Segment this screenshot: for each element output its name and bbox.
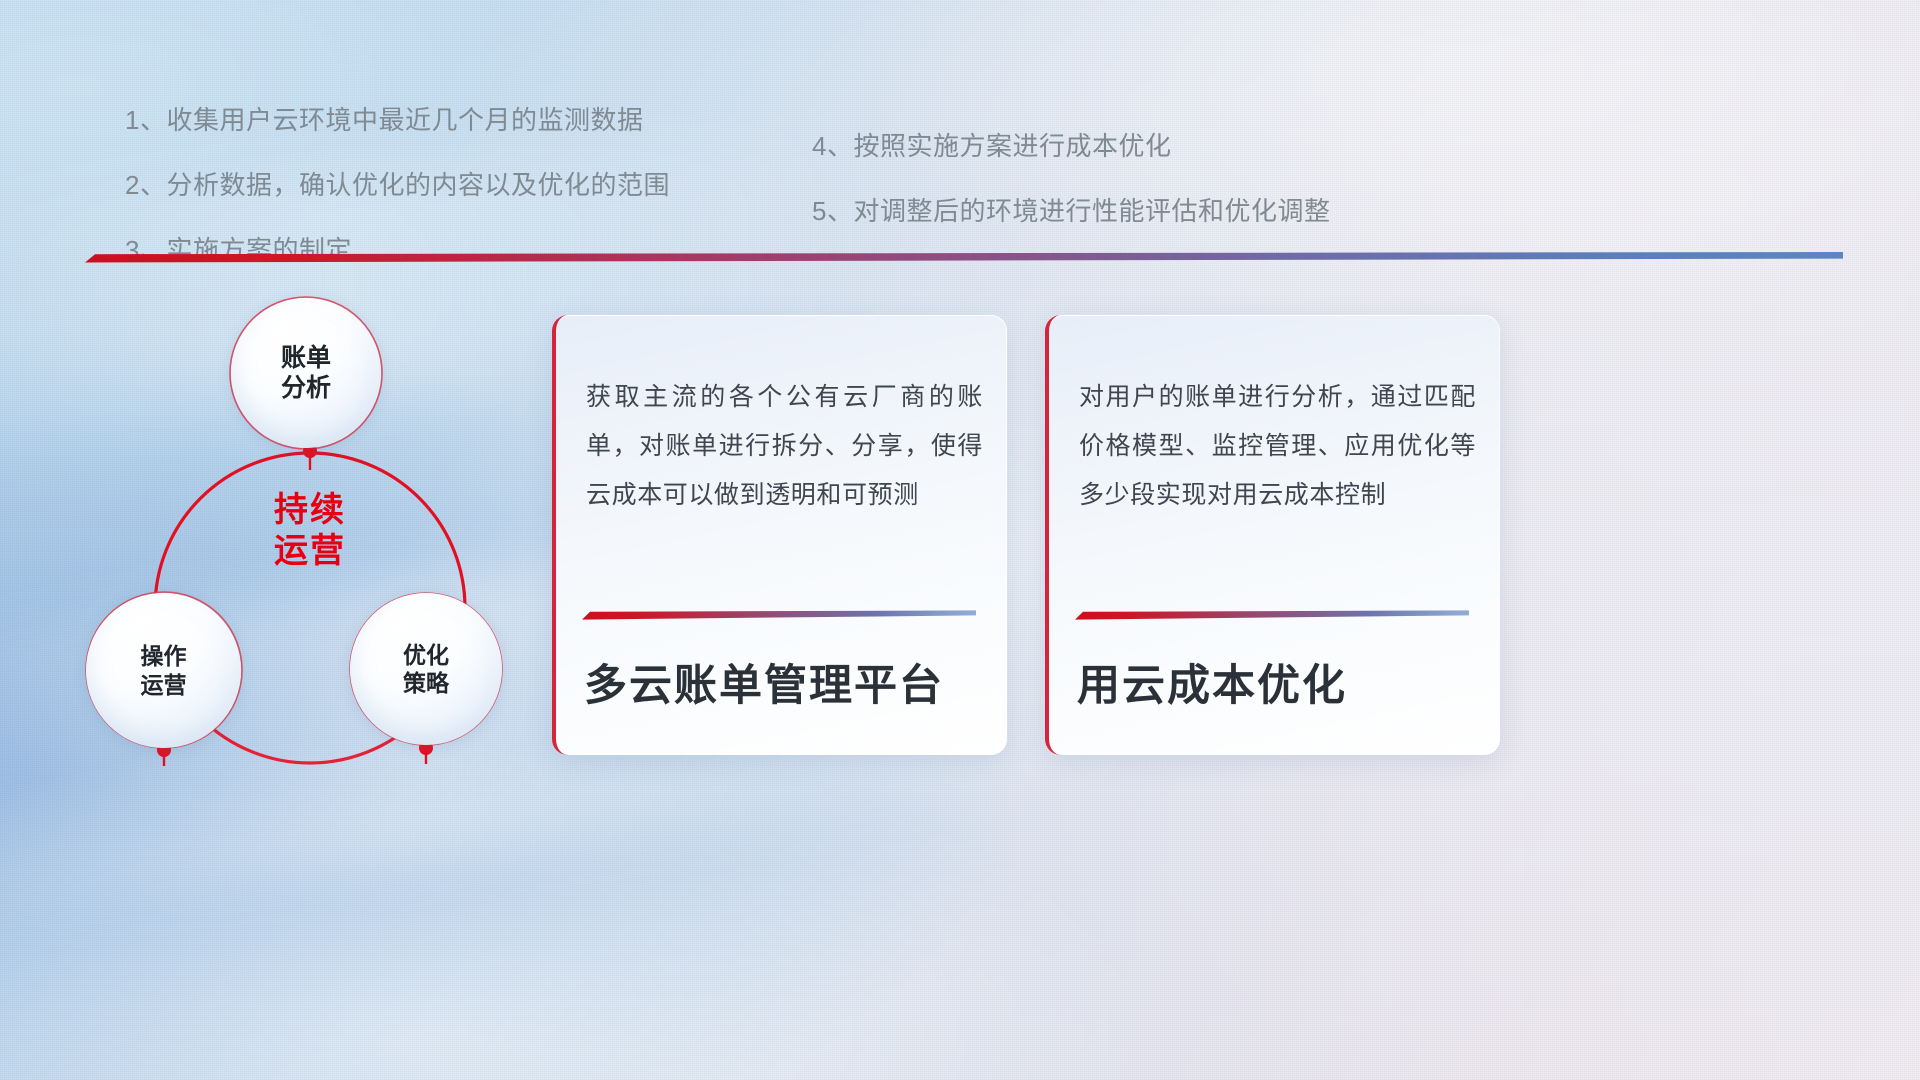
venn-node-bill-analysis[interactable]: 账单分析 bbox=[231, 298, 381, 448]
continuous-operation-diagram: 账单分析 操作运营 优化策略 持续运营 bbox=[78, 288, 548, 778]
step-item-2: 2、分析数据，确认优化的内容以及优化的范围 bbox=[125, 165, 670, 202]
venn-node-bill-analysis-label: 账单分析 bbox=[281, 343, 331, 404]
step-item-4: 4、按照实施方案进行成本优化 bbox=[812, 126, 1330, 163]
section-divider bbox=[85, 252, 1843, 263]
venn-center-label: 持续运营 bbox=[230, 476, 390, 586]
feature-card-2-title: 用云成本优化 bbox=[1077, 651, 1347, 713]
venn-node-strategy[interactable]: 优化策略 bbox=[350, 593, 502, 745]
venn-node-strategy-label: 优化策略 bbox=[403, 641, 449, 697]
venn-node-operation[interactable]: 操作运营 bbox=[86, 593, 241, 748]
feature-card-2-body: 对用户的账单进行分析，通过匹配价格模型、监控管理、应用优化等多少段实现对用云成本… bbox=[1079, 373, 1476, 519]
steps-list-right: 4、按照实施方案进行成本优化 5、对调整后的环境进行性能评估和优化调整 bbox=[812, 126, 1330, 228]
step-item-1: 1、收集用户云环境中最近几个月的监测数据 bbox=[125, 100, 670, 137]
feature-card-1-body: 获取主流的各个公有云厂商的账单，对账单进行拆分、分享，使得云成本可以做到透明和可… bbox=[586, 373, 983, 519]
feature-card-1-divider bbox=[582, 607, 976, 617]
slide-canvas: 1、收集用户云环境中最近几个月的监测数据 2、分析数据，确认优化的内容以及优化的… bbox=[0, 0, 1920, 1080]
venn-node-operation-label: 操作运营 bbox=[141, 642, 187, 698]
feature-card-cloud-cost-optimization[interactable]: 对用户的账单进行分析，通过匹配价格模型、监控管理、应用优化等多少段实现对用云成本… bbox=[1045, 315, 1500, 755]
step-item-5: 5、对调整后的环境进行性能评估和优化调整 bbox=[812, 191, 1330, 228]
feature-card-1-title: 多云账单管理平台 bbox=[584, 651, 944, 713]
feature-card-multi-cloud-billing[interactable]: 获取主流的各个公有云厂商的账单，对账单进行拆分、分享，使得云成本可以做到透明和可… bbox=[552, 315, 1007, 755]
steps-list-left: 1、收集用户云环境中最近几个月的监测数据 2、分析数据，确认优化的内容以及优化的… bbox=[125, 100, 670, 267]
feature-card-2-divider bbox=[1075, 607, 1469, 617]
